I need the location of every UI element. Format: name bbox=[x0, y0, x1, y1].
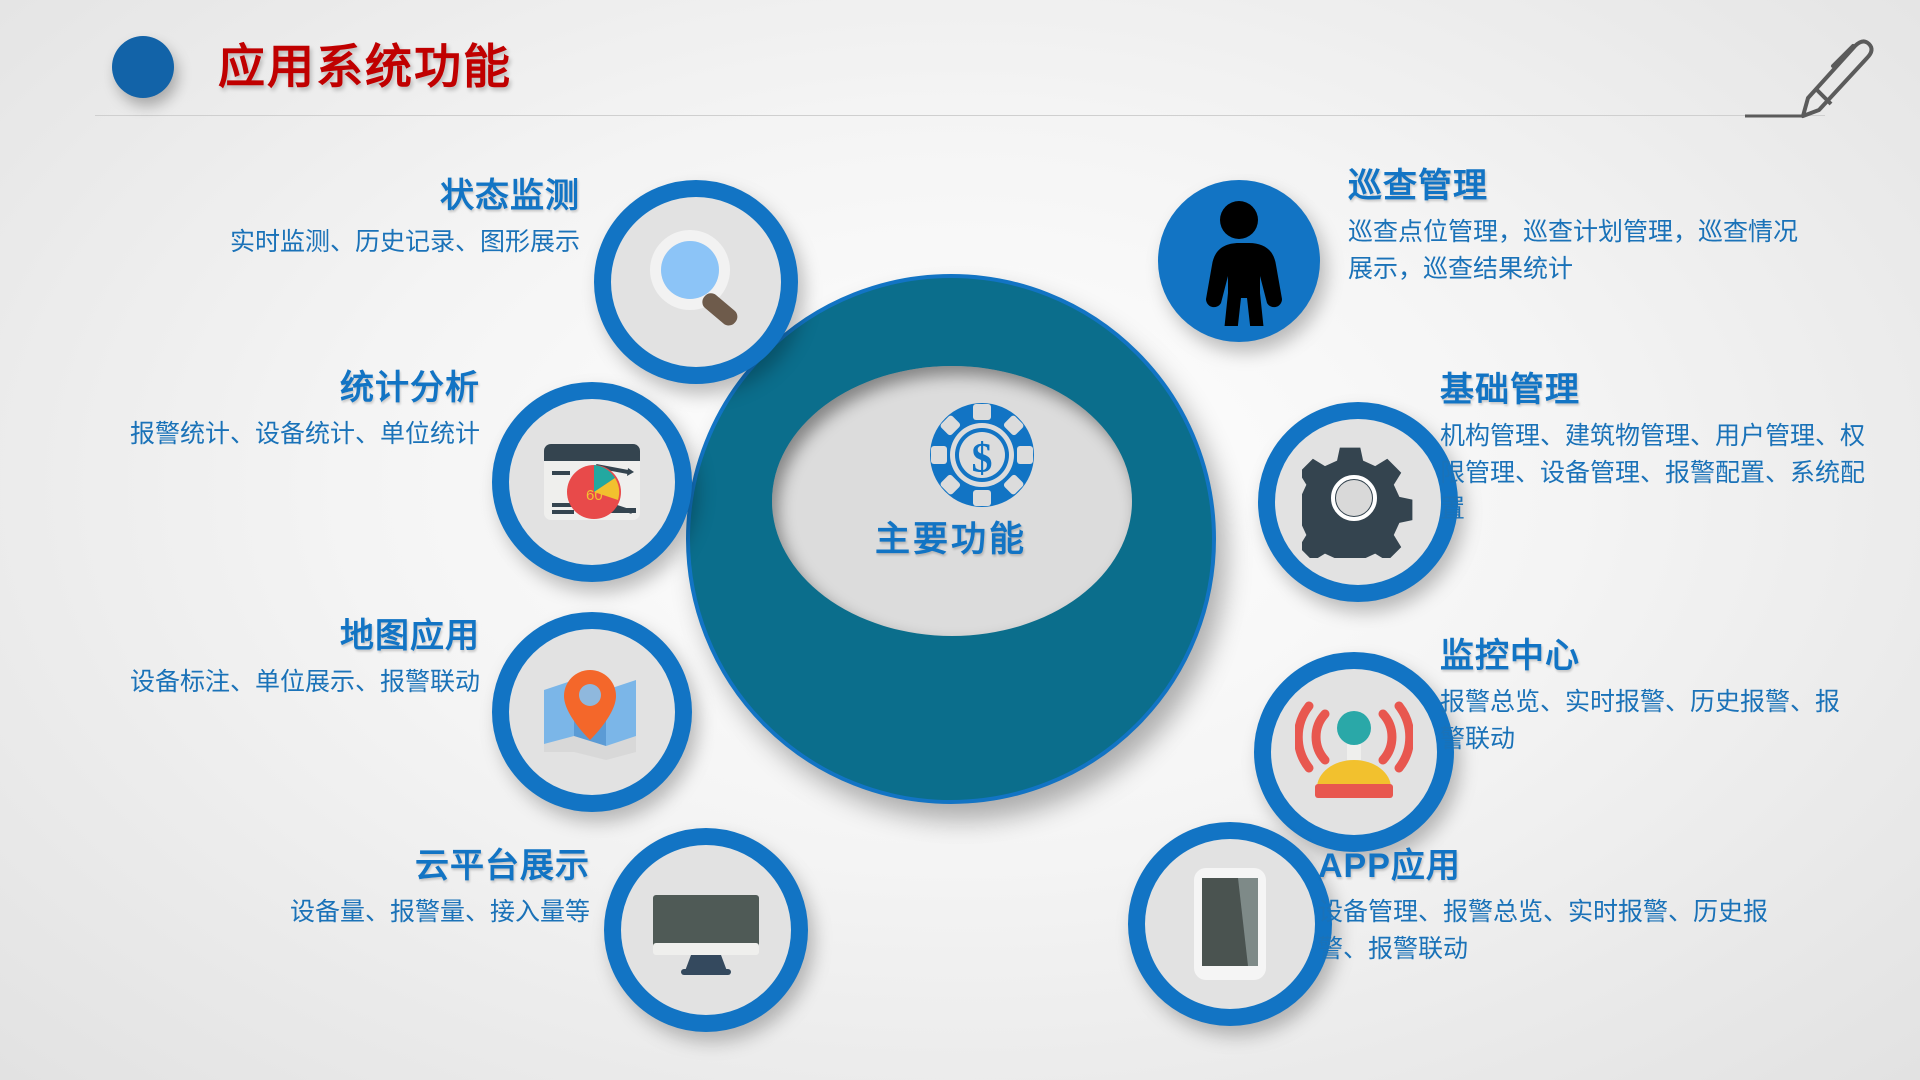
node-title: 基础管理 bbox=[1440, 372, 1870, 409]
map-pin-icon bbox=[492, 612, 692, 812]
node-title: 巡查管理 bbox=[1348, 168, 1818, 205]
header-bullet-icon bbox=[112, 36, 174, 98]
node-title: 地图应用 bbox=[10, 618, 480, 655]
node-title: 监控中心 bbox=[1440, 638, 1860, 675]
smartphone-icon bbox=[1128, 822, 1332, 1026]
node-title: 统计分析 bbox=[10, 370, 480, 407]
siren-alarm-icon bbox=[1254, 652, 1454, 852]
node-desc: 实时监测、历史记录、图形展示 bbox=[100, 224, 580, 260]
node-monitor-text: 监控中心 报警总览、实时报警、历史报警、报警联动 bbox=[1440, 638, 1860, 757]
node-app-text: APP应用 设备管理、报警总览、实时报警、历史报警、报警联动 bbox=[1318, 848, 1788, 967]
node-desc: 报警总览、实时报警、历史报警、报警联动 bbox=[1440, 684, 1860, 757]
page-title: 应用系统功能 bbox=[218, 28, 512, 97]
node-title: APP应用 bbox=[1318, 848, 1788, 885]
node-status-text: 状态监测 实时监测、历史记录、图形展示 bbox=[100, 178, 580, 261]
pie-chart-window-icon: 60 bbox=[492, 382, 692, 582]
node-desc: 报警统计、设备统计、单位统计 bbox=[10, 416, 480, 452]
node-desc: 设备标注、单位展示、报警联动 bbox=[10, 664, 480, 700]
monitor-icon bbox=[604, 828, 808, 1032]
node-desc: 机构管理、建筑物管理、用户管理、权限管理、设备管理、报警配置、系统配置 bbox=[1440, 418, 1870, 527]
node-basic-text: 基础管理 机构管理、建筑物管理、用户管理、权限管理、设备管理、报警配置、系统配置 bbox=[1440, 372, 1870, 527]
node-cloud-text: 云平台展示 设备量、报警量、接入量等 bbox=[150, 848, 590, 931]
node-title: 云平台展示 bbox=[150, 848, 590, 885]
svg-text:$: $ bbox=[972, 436, 993, 482]
magnifier-icon bbox=[594, 180, 798, 384]
svg-text:60: 60 bbox=[586, 487, 603, 504]
header-divider bbox=[95, 115, 1825, 116]
node-title: 状态监测 bbox=[100, 178, 580, 215]
casino-chip-dollar-icon: $ bbox=[927, 400, 1037, 515]
node-patrol-text: 巡查管理 巡查点位管理，巡查计划管理，巡查情况展示，巡查结果统计 bbox=[1348, 168, 1818, 287]
node-desc: 设备管理、报警总览、实时报警、历史报警、报警联动 bbox=[1318, 894, 1788, 967]
gear-icon bbox=[1258, 402, 1458, 602]
person-icon bbox=[1158, 180, 1320, 342]
node-statistics-text: 统计分析 报警统计、设备统计、单位统计 bbox=[10, 370, 480, 453]
pen-icon bbox=[1745, 22, 1905, 127]
node-desc: 巡查点位管理，巡查计划管理，巡查情况展示，巡查结果统计 bbox=[1348, 214, 1818, 287]
page-header: 应用系统功能 bbox=[0, 0, 1920, 118]
node-map-text: 地图应用 设备标注、单位展示、报警联动 bbox=[10, 618, 480, 701]
center-label: 主要功能 bbox=[686, 511, 1216, 562]
node-desc: 设备量、报警量、接入量等 bbox=[150, 894, 590, 930]
